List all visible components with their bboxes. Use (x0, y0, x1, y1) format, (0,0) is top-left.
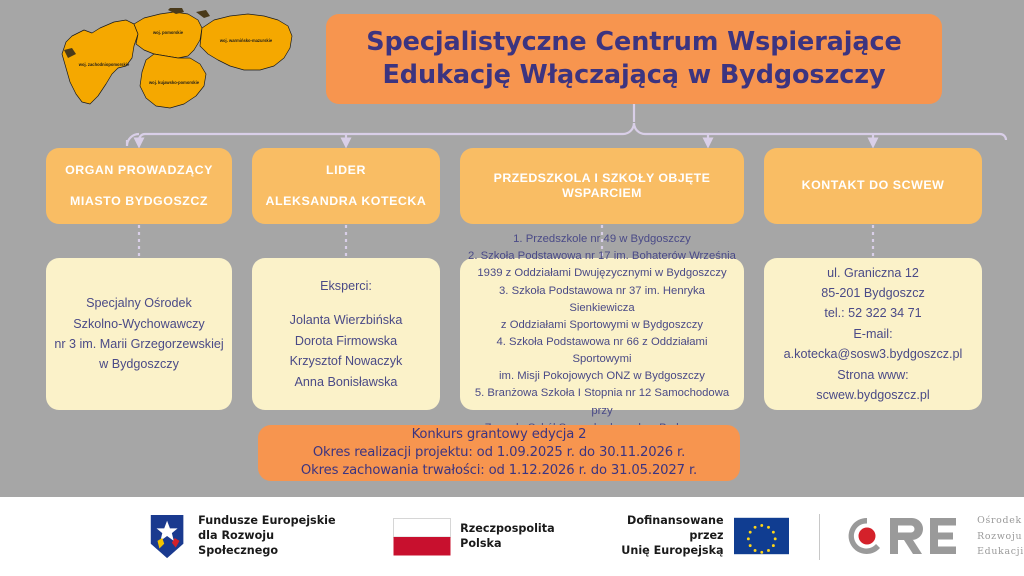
rzeczpospolita-label: Rzeczpospolita Polska (460, 522, 554, 552)
map-svg: woj. zachodniopomorskie woj. pomorskie w… (48, 8, 318, 116)
grant-competition-line: Konkurs grantowy edycja 2 (412, 426, 587, 444)
fe-line-1: Fundusze Europejskie (198, 514, 335, 527)
header-subtitle-lider: ALEKSANDRA KOTECKA (266, 194, 427, 209)
fundusze-europejskie-icon (146, 511, 188, 563)
list-item: 1939 z Oddziałami Dwujęzycznymi w Bydgos… (477, 265, 726, 282)
eu-line-1: Dofinansowane przez (627, 514, 724, 542)
header-title-kontakt: KONTAKT DO SCWEW (802, 178, 945, 193)
logo-fundusze-europejskie: Fundusze Europejskie dla Rozwoju Społecz… (146, 511, 351, 563)
content-line: Specjalny Ośrodek (86, 293, 192, 313)
ore-sub-line-2: Rozwoju (977, 529, 1024, 545)
header-box-przedszkola-i-szkoly[interactable]: PRZEDSZKOLA I SZKOŁY OBJĘTE WSPARCIEM (460, 148, 744, 224)
ore-subtitle: Ośrodek Rozwoju Edukacji (977, 513, 1024, 560)
content-line: nr 3 im. Marii Grzegorzewskiej (54, 334, 223, 354)
contact-phone: tel.: 52 322 34 71 (824, 303, 921, 323)
list-item: z Oddziałami Sportowymi w Bydgoszczy (501, 317, 703, 334)
contact-email-label: E-mail: (853, 324, 892, 344)
polish-flag-icon (393, 518, 451, 556)
footer-divider (819, 514, 820, 560)
header-title-szkoly-line2: WSPARCIEM (562, 186, 642, 201)
eu-flag-icon (734, 517, 790, 555)
map-label-zachodniopomorskie: woj. zachodniopomorskie (78, 62, 130, 67)
content-box-kontakt: ul. Graniczna 12 85-201 Bydgoszcz tel.: … (764, 258, 982, 410)
content-line: w Bydgoszczy (99, 354, 179, 374)
header-subtitle-organ: MIASTO BYDGOSZCZ (70, 194, 208, 209)
fe-line-2: dla Rozwoju Społecznego (198, 529, 351, 559)
logo-unia-europejska: Dofinansowane przez Unię Europejską (595, 514, 789, 559)
content-box-eksperci: Eksperci: Jolanta Wierzbińska Dorota Fir… (252, 258, 440, 410)
list-item: 5. Branżowa Szkoła I Stopnia nr 12 Samoc… (466, 385, 738, 419)
list-item: 4. Szkoła Podstawowa nr 66 z Oddziałami … (466, 334, 738, 368)
fundusze-europejskie-label: Fundusze Europejskie dla Rozwoju Społecz… (198, 514, 351, 559)
grant-info-banner: Konkurs grantowy edycja 2 Okres realizac… (258, 425, 740, 481)
content-box-lista-szkol: 1. Przedszkole nr 49 w Bydgoszczy 2. Szk… (460, 258, 744, 410)
unia-europejska-label: Dofinansowane przez Unię Europejską (595, 514, 724, 559)
list-item: Krzysztof Nowaczyk (290, 351, 403, 371)
region-pomorskie (134, 12, 202, 58)
page-title-line-2: Edukację Włączającą w Bydgoszczy (382, 59, 885, 92)
contact-email-value[interactable]: a.kotecka@sosw3.bydgoszcz.pl (784, 344, 963, 364)
list-item: Dorota Firmowska (295, 331, 397, 351)
content-box-organ-prowadzacy: Specjalny Ośrodek Szkolno-Wychowawczy nr… (46, 258, 232, 410)
grant-realization-period: Okres realizacji projektu: od 1.09.2025 … (313, 444, 685, 462)
footer-logos-bar: Fundusze Europejskie dla Rozwoju Społecz… (0, 497, 1024, 576)
content-heading-eksperci: Eksperci: (320, 276, 372, 296)
page-title-banner: Specjalistyczne Centrum Wspierające Eduk… (326, 14, 942, 104)
header-box-lider[interactable]: LIDER ALEKSANDRA KOTECKA (252, 148, 440, 224)
map-label-pomorskie: woj. pomorskie (152, 30, 184, 35)
contact-website-value[interactable]: scwew.bydgoszcz.pl (816, 385, 929, 405)
ore-sub-line-1: Ośrodek (977, 513, 1024, 529)
infographic-canvas: woj. zachodniopomorskie woj. pomorskie w… (0, 0, 1024, 576)
contact-address-street: ul. Graniczna 12 (827, 263, 919, 283)
header-title-organ: ORGAN PROWADZĄCY (65, 163, 213, 178)
ore-sub-line-3: Edukacji (977, 544, 1024, 560)
rp-line-2: Polska (460, 537, 554, 552)
grant-sustainability-period: Okres zachowania trwałości: od 1.12.2026… (301, 462, 697, 480)
map-label-warminsko-mazurskie: woj. warmińsko-mazurskie (219, 38, 273, 43)
ore-wordmark-icon (846, 515, 964, 557)
logo-rzeczpospolita-polska: Rzeczpospolita Polska (393, 518, 554, 556)
list-item: Jolanta Wierzbińska (290, 310, 403, 330)
map-label-kujawsko-pomorskie: woj. kujawsko-pomorskie (148, 80, 200, 85)
header-box-kontakt[interactable]: KONTAKT DO SCWEW (764, 148, 982, 224)
rp-line-1: Rzeczpospolita (460, 522, 554, 535)
header-title-szkoly: PRZEDSZKOLA I SZKOŁY OBJĘTE (494, 171, 711, 186)
list-item: 1. Przedszkole nr 49 w Bydgoszczy (513, 231, 691, 248)
list-item: im. Misji Pokojowych ONZ w Bydgoszczy (499, 368, 705, 385)
page-title-line-1: Specjalistyczne Centrum Wspierające (366, 26, 902, 59)
content-line: Szkolno-Wychowawczy (73, 314, 204, 334)
list-item: 3. Szkoła Podstawowa nr 37 im. Henryka S… (466, 283, 738, 317)
header-box-organ-prowadzacy[interactable]: ORGAN PROWADZĄCY MIASTO BYDGOSZCZ (46, 148, 232, 224)
list-item: 2. Szkoła Podstawowa nr 17 im. Bohaterów… (468, 248, 736, 265)
contact-address-city: 85-201 Bydgoszcz (821, 283, 925, 303)
contact-website-label: Strona www: (837, 365, 908, 385)
logo-ore: Ośrodek Rozwoju Edukacji (846, 513, 1024, 560)
header-title-lider: LIDER (326, 163, 366, 178)
list-item: Anna Bonisławska (295, 372, 398, 392)
poland-voivodeship-map: woj. zachodniopomorskie woj. pomorskie w… (48, 8, 318, 116)
eu-line-2: Unię Europejską (595, 544, 724, 559)
